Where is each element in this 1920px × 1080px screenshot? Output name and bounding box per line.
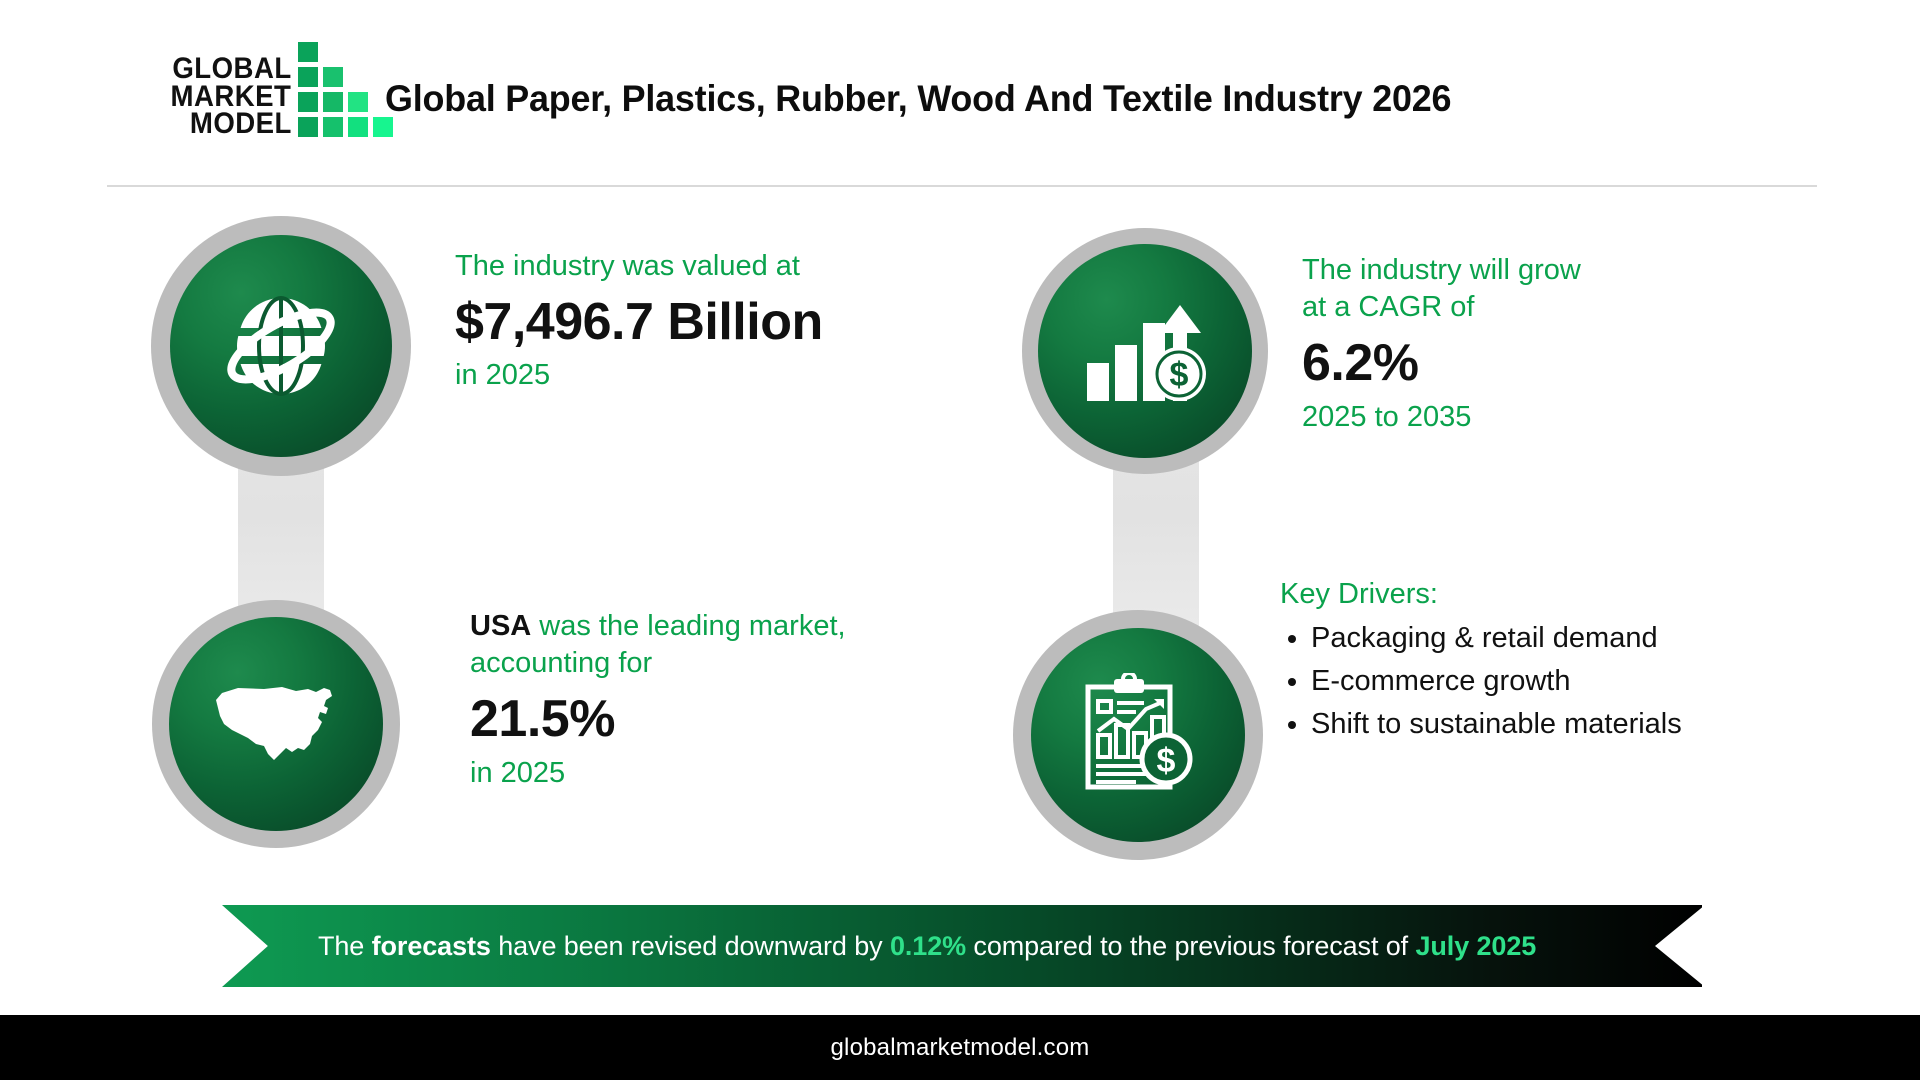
header: GLOBAL MARKET MODEL Global Paper, Plasti…: [0, 0, 1920, 186]
key-driver-item: Packaging & retail demand: [1280, 617, 1800, 660]
stat-cagr-number: 6.2%: [1302, 333, 1772, 394]
forecast-revision-ribbon: The forecasts have been revised downward…: [222, 905, 1702, 987]
logo-square-1: [298, 67, 318, 87]
header-divider: [107, 185, 1817, 187]
footer-website-url[interactable]: globalmarketmodel.com: [831, 1034, 1090, 1062]
stat-cagr-lead-2: at a CAGR of: [1302, 289, 1772, 326]
ribbon-previous-forecast-date: July 2025: [1415, 931, 1536, 961]
key-drivers-list: Packaging & retail demandE-commerce grow…: [1280, 617, 1800, 746]
globe-orbit-icon: [217, 282, 345, 410]
badge-cagr: $: [1022, 228, 1268, 474]
badge-leading-market: [152, 600, 400, 848]
stat-leading-market-sub: in 2025: [470, 755, 930, 791]
logo-line-model: MODEL: [189, 110, 291, 138]
stat-leading-market-country: USA: [470, 610, 531, 642]
badge-inner-cagr: $: [1038, 244, 1252, 458]
stat-market-value-number: $7,496.7 Billion: [455, 292, 895, 353]
svg-text:$: $: [1170, 356, 1189, 394]
page-title: Global Paper, Plastics, Rubber, Wood And…: [385, 78, 1451, 120]
logo-square-8: [348, 117, 368, 137]
stat-leading-market-text: USA was the leading market, accounting f…: [470, 608, 930, 791]
stat-market-value-sub: in 2025: [455, 357, 895, 393]
stat-leading-market-number: 21.5%: [470, 689, 930, 750]
infographic-page: GLOBAL MARKET MODEL Global Paper, Plasti…: [0, 0, 1920, 1080]
brand-logo[interactable]: GLOBAL MARKET MODEL: [160, 42, 392, 138]
stat-leading-market-lead: USA was the leading market,: [470, 608, 930, 645]
logo-square-6: [298, 117, 318, 137]
ribbon-mid-2: compared to the previous forecast of: [966, 931, 1415, 961]
usa-map-icon: [206, 678, 346, 770]
svg-text:$: $: [1157, 742, 1176, 780]
clipboard-report-dollar-icon: $: [1076, 673, 1200, 797]
ribbon-revision-percent: 0.12%: [890, 931, 966, 961]
key-drivers-title: Key Drivers:: [1280, 578, 1800, 611]
footer-bar: globalmarketmodel.com: [0, 1015, 1920, 1080]
logo-square-2: [323, 67, 343, 87]
stat-cagr-text: The industry will grow at a CAGR of 6.2%…: [1302, 252, 1772, 435]
logo-square-9: [373, 117, 393, 137]
key-drivers-block: Key Drivers: Packaging & retail demandE-…: [1280, 578, 1800, 746]
badge-inner-market-value: [170, 235, 392, 457]
stat-market-value-text: The industry was valued at $7,496.7 Bill…: [455, 248, 895, 394]
bar-chart-growth-dollar-icon: $: [1081, 289, 1209, 413]
badge-inner-leading-market: [169, 617, 383, 831]
ribbon-mid-1: have been revised downward by: [491, 931, 890, 961]
key-driver-item: Shift to sustainable materials: [1280, 703, 1800, 746]
ribbon-bold-forecasts: forecasts: [372, 931, 491, 961]
stat-market-value-lead: The industry was valued at: [455, 248, 895, 285]
logo-square-4: [323, 92, 343, 112]
logo-square-0: [298, 42, 318, 62]
stat-leading-market-lead-2: accounting for: [470, 645, 930, 682]
logo-bar-grid-icon: [298, 42, 392, 138]
badge-market-value: [151, 216, 411, 476]
logo-line-market: MARKET: [171, 83, 292, 111]
ribbon-prefix: The: [318, 931, 372, 961]
logo-line-global: GLOBAL: [172, 55, 291, 83]
forecast-revision-text: The forecasts have been revised downward…: [318, 931, 1536, 962]
badge-key-drivers: $: [1013, 610, 1263, 860]
key-driver-item: E-commerce growth: [1280, 660, 1800, 703]
stat-cagr-lead-1: The industry will grow: [1302, 252, 1772, 289]
badge-inner-key-drivers: $: [1031, 628, 1245, 842]
logo-square-5: [348, 92, 368, 112]
logo-square-7: [323, 117, 343, 137]
logo-square-3: [298, 92, 318, 112]
stat-leading-market-lead-1: was the leading market,: [531, 610, 845, 642]
logo-wordmark: GLOBAL MARKET MODEL: [160, 55, 291, 138]
stat-cagr-sub: 2025 to 2035: [1302, 399, 1772, 435]
